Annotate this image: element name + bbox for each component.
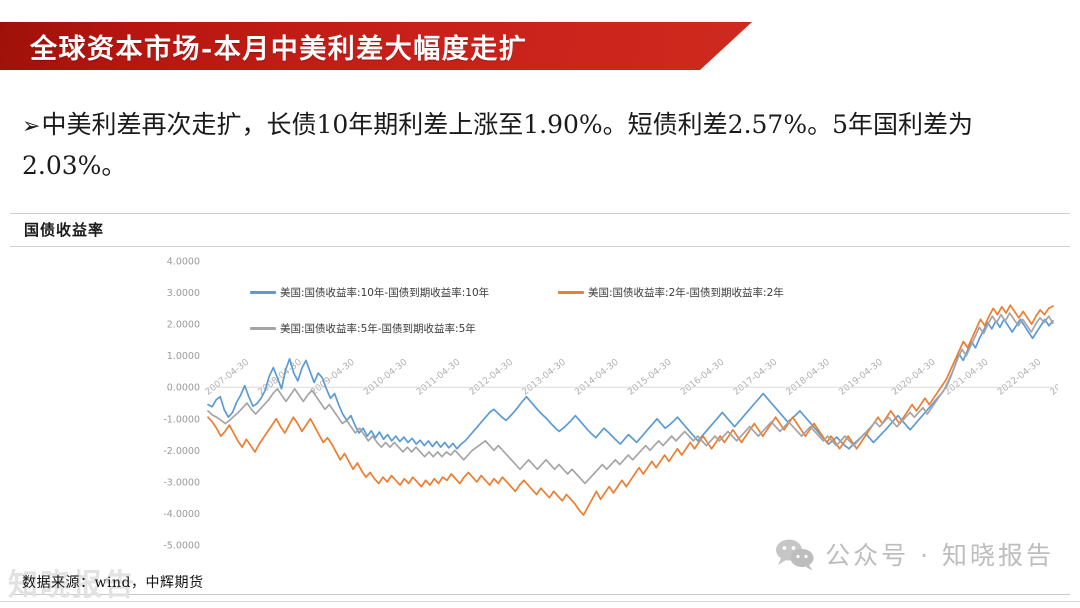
y-axis-tick-label: 0.0000 — [167, 383, 200, 394]
y-axis-labels: 4.00003.00002.00001.00000.0000-1.0000-2.… — [163, 257, 200, 552]
wechat-icon — [775, 538, 815, 570]
y-axis-tick-label: 4.0000 — [167, 257, 200, 268]
x-axis-tick-label: 2007-04-30 — [204, 357, 252, 397]
chart-title: 国债收益率 — [24, 219, 104, 240]
series-lines — [208, 305, 1053, 515]
x-axis-tick-label: 2015-04-30 — [626, 357, 674, 397]
bullet-paragraph-text: 中美利差再次走扩，长债10年期利差上涨至1.90%。短债利差2.57%。5年国利… — [22, 110, 973, 180]
bullet-paragraph: ➢中美利差再次走扩，长债10年期利差上涨至1.90%。短债利差2.57%。5年国… — [22, 104, 1062, 187]
title-accent-shape — [745, 22, 797, 70]
x-axis-tick-label: 2019-04-30 — [837, 357, 885, 397]
x-axis-tick-label: 2017-04-30 — [732, 357, 780, 397]
y-axis-tick-label: -4.0000 — [163, 509, 200, 520]
y-axis-tick-label: -3.0000 — [163, 477, 200, 488]
y-axis-tick-label: -1.0000 — [163, 414, 200, 425]
x-axis-tick-label: 2012-04-30 — [468, 357, 516, 397]
wechat-badge[interactable]: 公众号 · 知晓报告 — [775, 536, 1054, 572]
y-axis-tick-label: 1.0000 — [167, 351, 200, 362]
page-bottom-divider — [0, 601, 1080, 602]
x-axis-tick-label: 2018-04-30 — [785, 357, 833, 397]
x-axis-labels: 2007-04-302008-04-302009-04-302010-04-30… — [204, 357, 1058, 397]
wechat-label: 公众号 · 知晓报告 — [825, 536, 1054, 572]
series-line-0 — [208, 319, 1053, 448]
x-axis-tick-label: 2020-04-30 — [890, 357, 938, 397]
x-axis-tick-label: 2011-04-30 — [415, 357, 463, 397]
x-axis-tick-label: 2022-04-30 — [996, 357, 1044, 397]
y-axis-tick-label: 2.0000 — [167, 320, 200, 331]
line-chart-svg: 4.00003.00002.00001.00000.0000-1.0000-2.… — [158, 253, 1058, 563]
x-axis-tick-label: 2010-04-30 — [362, 357, 410, 397]
chart-plot-area: 4.00003.00002.00001.00000.0000-1.0000-2.… — [158, 253, 1058, 563]
slide-title-banner: 全球资本市场-本月中美利差大幅度走扩 — [0, 22, 752, 70]
chart-top-divider — [10, 213, 1070, 214]
y-axis-tick-label: 3.0000 — [167, 288, 200, 299]
series-line-2 — [208, 313, 1053, 483]
x-axis-tick-label: 2013-04-30 — [521, 357, 569, 397]
x-axis-tick-label: 2023-04-30 — [1049, 357, 1058, 397]
x-axis-tick-label: 2016-04-30 — [679, 357, 727, 397]
y-axis-tick-label: -5.0000 — [163, 541, 200, 552]
y-axis-tick-label: -2.0000 — [163, 446, 200, 457]
chart-header-divider — [10, 246, 1070, 247]
bullet-arrow-icon: ➢ — [22, 114, 40, 139]
page-title: 全球资本市场-本月中美利差大幅度走扩 — [30, 27, 527, 66]
source-note: 数据来源：wind，中辉期货 — [22, 572, 203, 592]
chart-bottom-divider — [10, 594, 1070, 595]
x-axis-tick-label: 2014-04-30 — [573, 357, 621, 397]
axis-lines — [208, 387, 1053, 391]
